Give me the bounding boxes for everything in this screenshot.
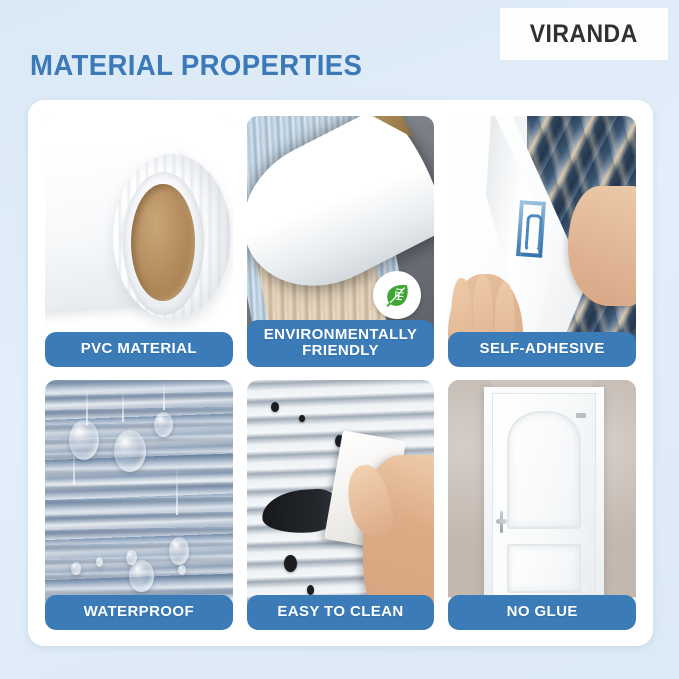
- feature-label-pvc-material: PVC MATERIAL: [45, 332, 233, 367]
- no-glue-door-image: [448, 380, 636, 631]
- feature-card-no-glue[interactable]: NO GLUE: [448, 380, 636, 631]
- water-droplet: [154, 412, 173, 437]
- water-trail: [86, 385, 88, 425]
- feature-card-environmentally-friendly[interactable]: ENVIRONMENTALLY FRIENDLY: [247, 116, 435, 367]
- self-adhesive-image: [448, 116, 636, 367]
- eco-roll-tip-shape: [369, 116, 414, 151]
- stain-spot: [307, 585, 315, 595]
- water-droplet: [129, 560, 153, 593]
- waterproof-image: [45, 380, 233, 631]
- door-frame: [484, 387, 604, 600]
- stain-spot: [299, 415, 305, 423]
- feature-label-environmentally-friendly: ENVIRONMENTALLY FRIENDLY: [247, 320, 435, 367]
- feature-label-line-2: FRIENDLY: [302, 342, 379, 359]
- water-trail: [163, 382, 165, 410]
- pvc-cardboard-core-shape: [131, 184, 195, 302]
- brand-name: VIRANDA: [530, 20, 638, 49]
- water-droplet: [69, 420, 99, 460]
- feature-label-line-1: ENVIRONMENTALLY: [264, 326, 418, 343]
- water-trail: [122, 390, 124, 423]
- feature-label-waterproof: WATERPROOF: [45, 595, 233, 630]
- water-droplet: [114, 430, 146, 473]
- feature-card-easy-to-clean[interactable]: EASY TO CLEAN: [247, 380, 435, 631]
- water-droplet: [169, 537, 190, 565]
- leaf-icon: [373, 271, 421, 319]
- easy-to-clean-image: [247, 380, 435, 631]
- water-droplet: [71, 562, 80, 575]
- water-droplet: [126, 550, 137, 565]
- right-hand-shape: [568, 186, 636, 306]
- paperclip-icon: [516, 200, 546, 258]
- feature-card-waterproof[interactable]: WATERPROOF: [45, 380, 233, 631]
- feature-label-self-adhesive: SELF-ADHESIVE: [448, 332, 636, 367]
- feature-card-self-adhesive[interactable]: SELF-ADHESIVE: [448, 116, 636, 367]
- stain-spot: [271, 402, 279, 412]
- water-droplet: [96, 557, 104, 567]
- feature-label-easy-to-clean: EASY TO CLEAN: [247, 595, 435, 630]
- page-title: MATERIAL PROPERTIES: [30, 50, 362, 83]
- features-panel: PVC MATERIAL: [28, 100, 653, 646]
- water-droplet: [178, 565, 186, 575]
- pvc-roll-image: [45, 116, 233, 367]
- feature-card-pvc-material[interactable]: PVC MATERIAL: [45, 116, 233, 367]
- door-panel-upper: [507, 411, 582, 530]
- door-handle: [495, 511, 508, 533]
- stain-spot: [284, 555, 297, 573]
- water-trail: [176, 465, 178, 515]
- door-panel-lower: [507, 544, 582, 593]
- infographic-page: VIRANDA MATERIAL PROPERTIES PVC MATERIAL: [0, 0, 679, 679]
- brand-logo-box: VIRANDA: [500, 8, 668, 60]
- features-grid: PVC MATERIAL: [45, 116, 636, 630]
- feature-label-no-glue: NO GLUE: [448, 595, 636, 630]
- door-leaf: [492, 393, 595, 600]
- door-lock-plate: [576, 413, 585, 418]
